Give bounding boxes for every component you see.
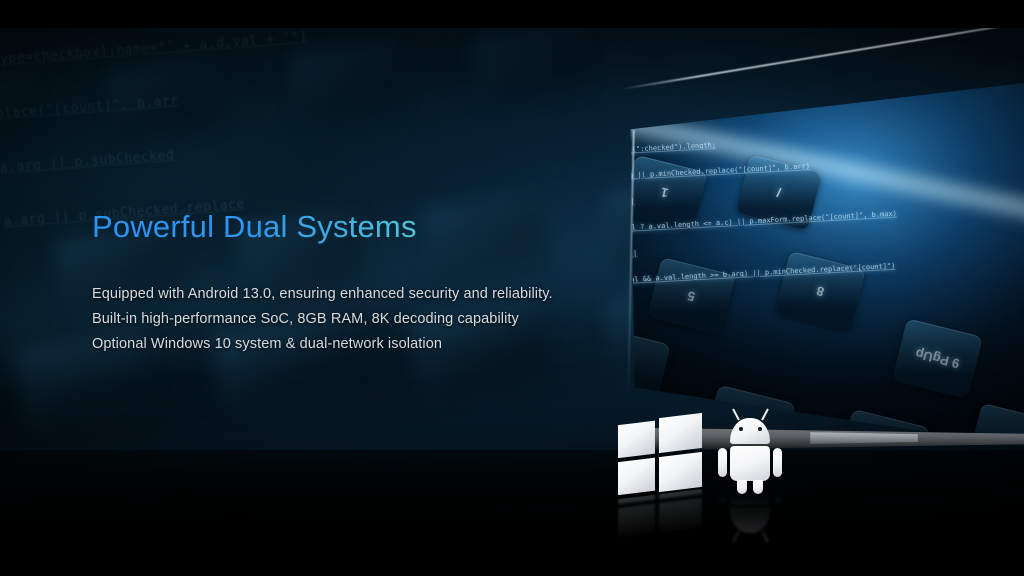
android-arm-right bbox=[773, 448, 782, 477]
android-eye-right bbox=[758, 427, 762, 431]
android-arm-left bbox=[718, 448, 727, 477]
android-eye-left bbox=[739, 427, 743, 431]
android-logo-reflection bbox=[716, 489, 784, 545]
page-title: Powerful Dual Systems bbox=[92, 206, 612, 248]
android-head bbox=[730, 418, 770, 444]
keycap-label: ▲ bbox=[616, 357, 632, 375]
windows-pane-bottom-left bbox=[618, 458, 655, 496]
android-antenna-left bbox=[732, 408, 740, 420]
windows-pane-top-right bbox=[659, 413, 702, 453]
windows-pane-bottom-right bbox=[659, 452, 702, 492]
screen-code-text: p.prevClicked("input[type=checkbox][name… bbox=[620, 65, 1009, 293]
android-body bbox=[730, 446, 770, 481]
android-leg-left bbox=[737, 480, 747, 494]
feature-list: Equipped with Android 13.0, ensuring enh… bbox=[92, 282, 612, 357]
text-block: Powerful Dual Systems Equipped with Andr… bbox=[92, 206, 612, 357]
list-item: Optional Windows 10 system & dual-networ… bbox=[92, 332, 612, 357]
list-item: Equipped with Android 13.0, ensuring enh… bbox=[92, 282, 612, 307]
android-antenna-right bbox=[761, 408, 769, 420]
letterbox-bar-top bbox=[0, 0, 1024, 28]
windows-pane-top-left bbox=[618, 421, 655, 459]
letterbox-bar-bottom bbox=[0, 548, 1024, 576]
list-item: Built-in high-performance SoC, 8GB RAM, … bbox=[92, 307, 612, 332]
slide-canvas: type=checkbox]:name="' + a.d.val + '"] p… bbox=[0, 0, 1024, 576]
windows-logo bbox=[618, 413, 702, 499]
android-logo bbox=[716, 406, 784, 488]
android-leg-right bbox=[753, 480, 763, 494]
